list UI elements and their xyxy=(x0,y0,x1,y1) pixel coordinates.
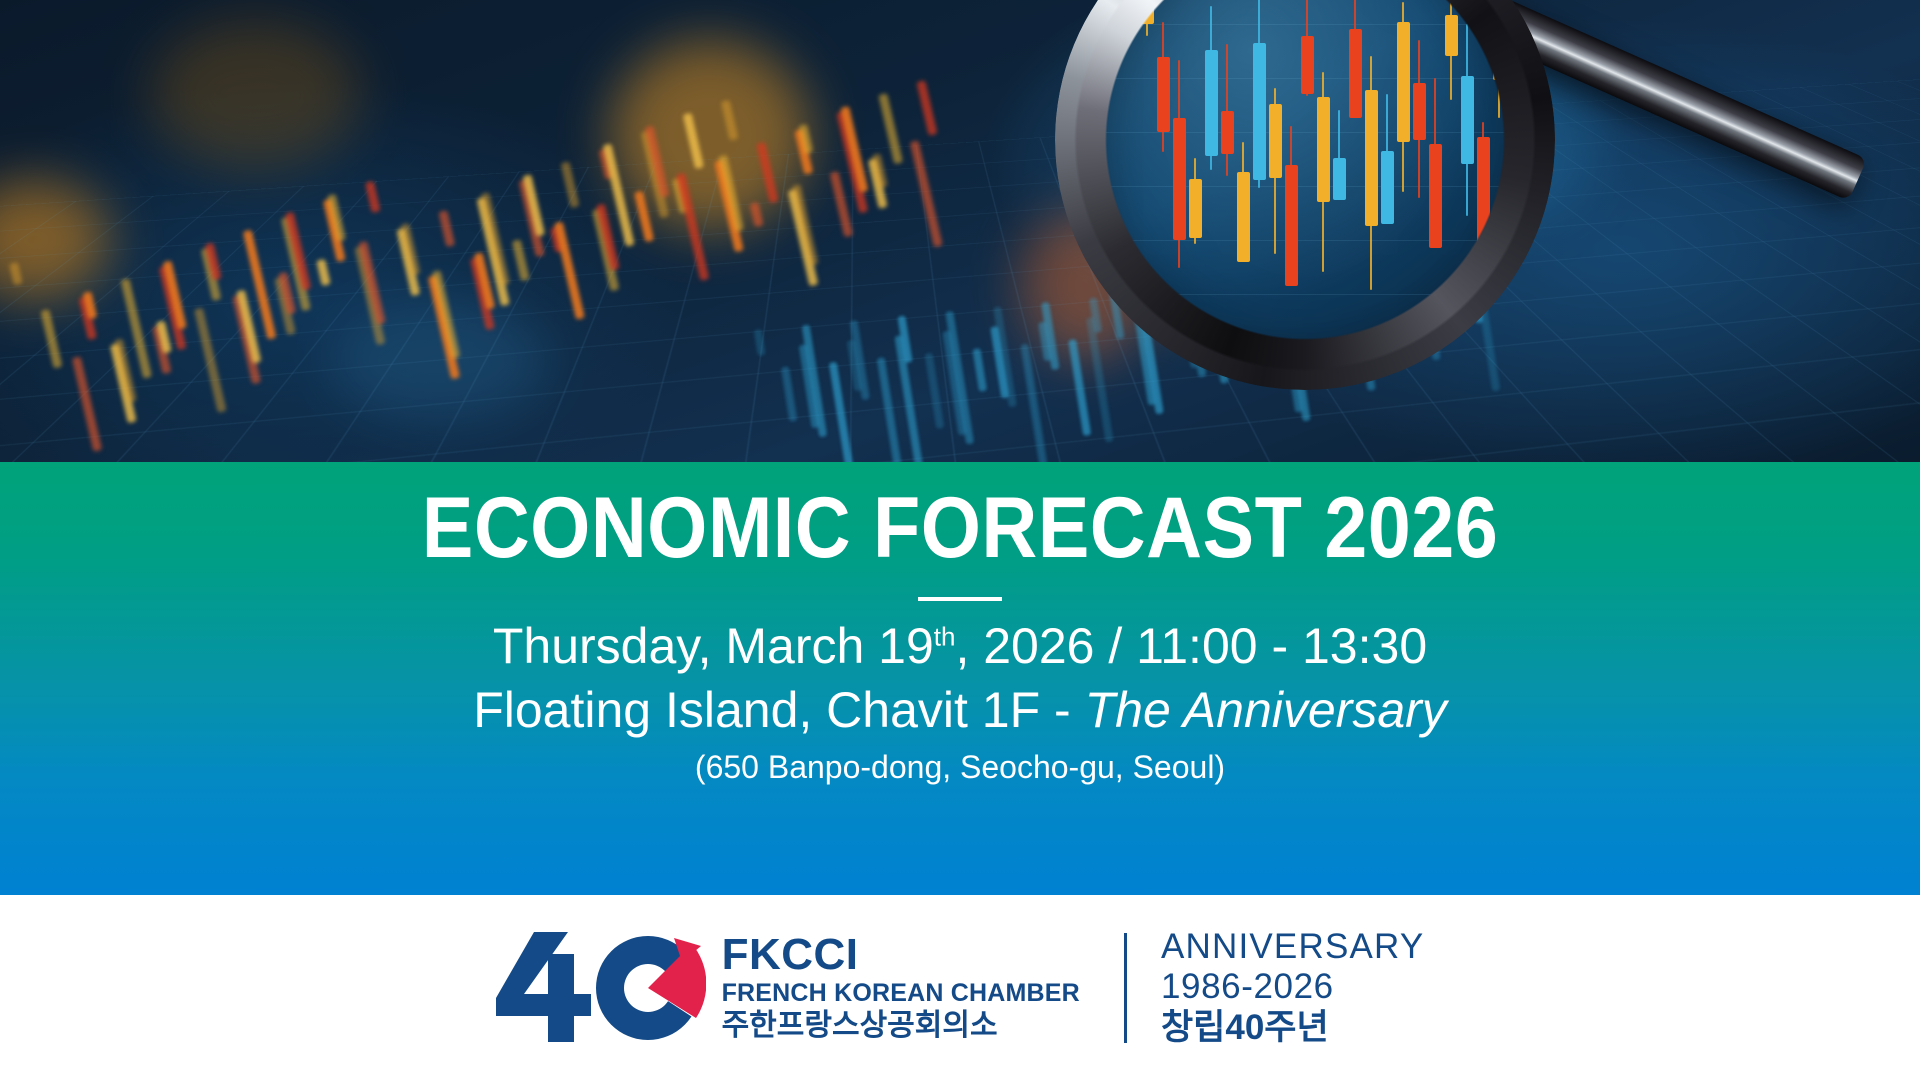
event-datetime: Thursday, March 19th, 2026 / 11:00 - 13:… xyxy=(0,617,1920,675)
event-banner: ECONOMIC FORECAST 2026 Thursday, March 1… xyxy=(0,0,1920,1080)
lockup-divider xyxy=(1124,933,1127,1043)
event-venue: Floating Island, Chavit 1F - The Anniver… xyxy=(0,681,1920,739)
venue-room-name: The Anniversary xyxy=(1085,682,1447,738)
bokeh-blur xyxy=(150,20,360,170)
anniversary-korean: 창립40주년 xyxy=(1161,1008,1424,1048)
date-ordinal-suffix: th xyxy=(934,621,956,651)
fkcci-logo-lockup: FKCCI FRENCH KOREAN CHAMBER 주한프랑스상공회의소 A… xyxy=(496,927,1425,1048)
event-address: (650 Banpo-dong, Seocho-gu, Seoul) xyxy=(0,749,1920,786)
fkcci-wordmark: FKCCI FRENCH KOREAN CHAMBER 주한프랑스상공회의소 xyxy=(722,933,1080,1043)
event-info-band: ECONOMIC FORECAST 2026 Thursday, March 1… xyxy=(0,462,1920,895)
hero-image xyxy=(0,0,1920,462)
page-title: ECONOMIC FORECAST 2026 xyxy=(96,462,1824,575)
fkcci-korean-name: 주한프랑스상공회의소 xyxy=(722,1009,1080,1043)
anniversary-block: ANNIVERSARY 1986-2026 창립40주년 xyxy=(1161,927,1424,1048)
event-date-suffix: , 2026 / 11:00 - 13:30 xyxy=(955,618,1427,674)
forty-anniversary-mark-icon xyxy=(496,932,706,1044)
anniversary-label: ANNIVERSARY xyxy=(1161,927,1424,966)
fkcci-full-name: FRENCH KOREAN CHAMBER xyxy=(722,979,1080,1007)
venue-name: Floating Island, Chavit 1F - xyxy=(473,682,1084,738)
title-divider xyxy=(918,597,1002,601)
anniversary-years: 1986-2026 xyxy=(1161,967,1424,1007)
event-date-prefix: Thursday, March 19 xyxy=(493,618,934,674)
fkcci-acronym: FKCCI xyxy=(722,933,1080,977)
magnifying-glass-icon xyxy=(1055,0,1555,390)
footer: FKCCI FRENCH KOREAN CHAMBER 주한프랑스상공회의소 A… xyxy=(0,895,1920,1080)
